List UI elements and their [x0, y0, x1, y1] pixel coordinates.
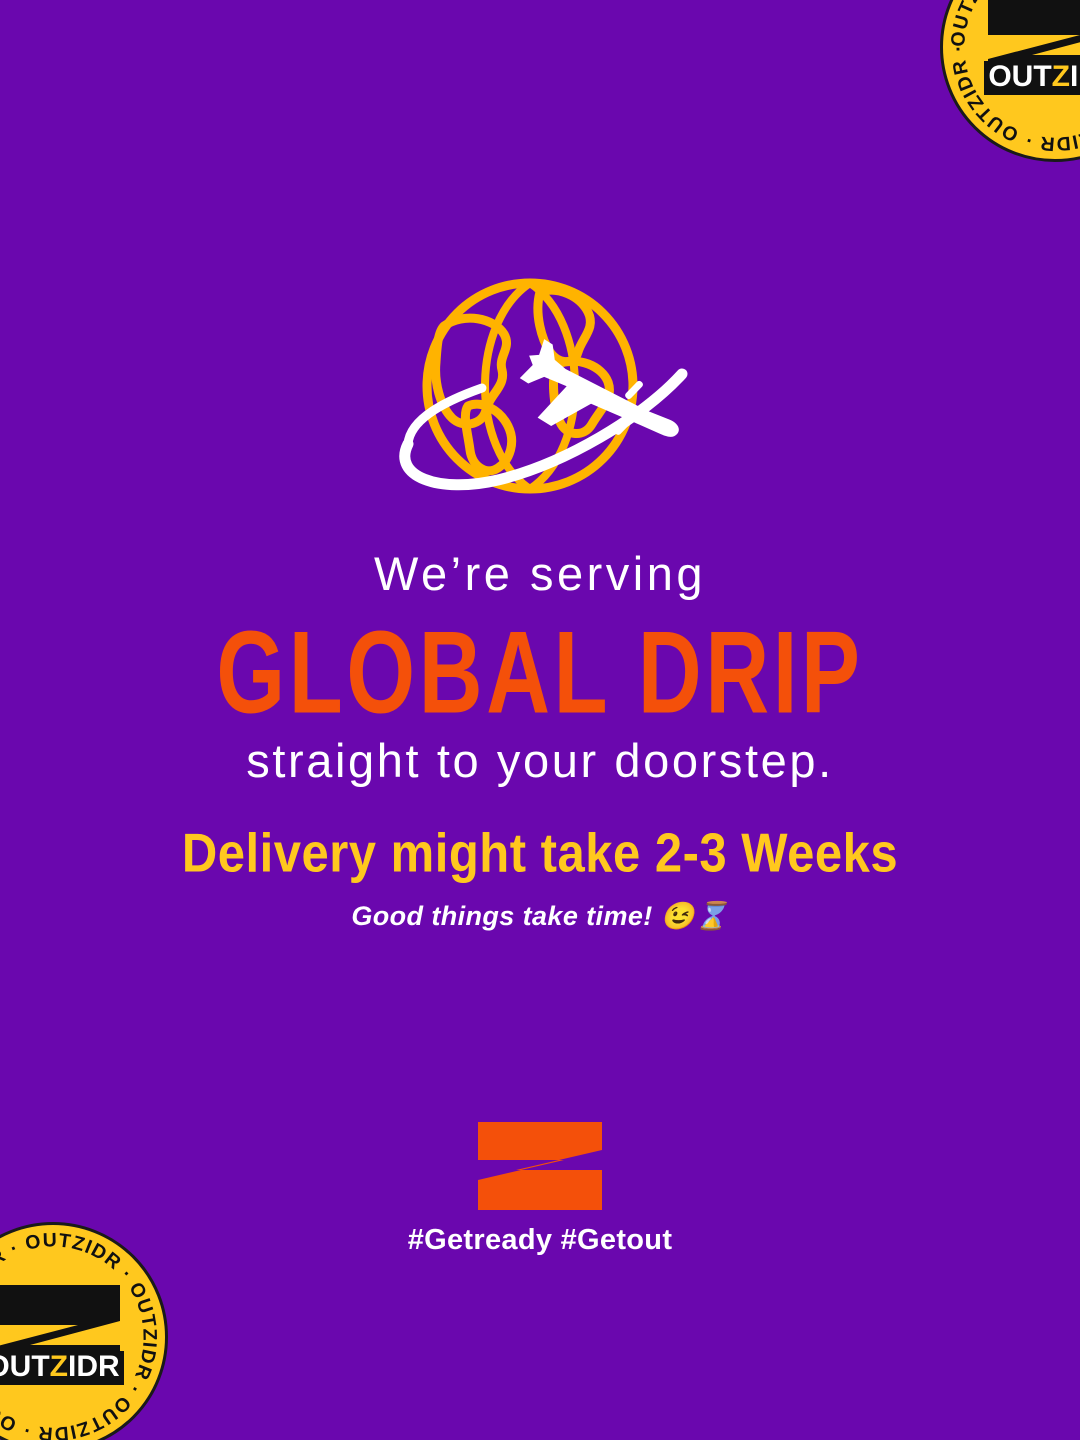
headline-line-1: We’re serving	[0, 548, 1080, 600]
outzidr-z-logo	[478, 1122, 602, 1210]
badge-core-logo: OUTZIDR	[980, 0, 1080, 103]
orbit-swoosh	[405, 374, 682, 485]
poster-canvas: OUTZIDR · OUTZIDR · OUTZIDR · OUTZIDR · …	[0, 0, 1080, 1440]
z-logo-mark	[478, 1122, 602, 1210]
badge-core-logo: OUTZIDR	[0, 1281, 128, 1393]
headline-line-2: GLOBAL DRIP	[43, 610, 1037, 736]
badge-core-word: OUTZIDR	[0, 1350, 120, 1383]
headline-block: We’re serving GLOBAL DRIP straight to yo…	[0, 548, 1080, 787]
globe-airplane-icon	[352, 278, 724, 514]
stamp-badge-bottom-left: OUTZIDR · OUTZIDR · OUTZIDR · OUTZIDR · …	[0, 1222, 168, 1440]
delivery-block: Delivery might take 2-3 Weeks Good thing…	[0, 822, 1080, 932]
headline-line-3: straight to your doorstep.	[0, 735, 1080, 787]
delivery-headline: Delivery might take 2-3 Weeks	[0, 822, 1080, 885]
badge-core-word: OUTZIDR	[988, 60, 1080, 93]
delivery-subtext: Good things take time! 😉⌛	[0, 900, 1080, 932]
stamp-badge-top-right: OUTZIDR · OUTZIDR · OUTZIDR · OUTZIDR · …	[940, 0, 1080, 162]
globe-sphere	[427, 283, 633, 489]
